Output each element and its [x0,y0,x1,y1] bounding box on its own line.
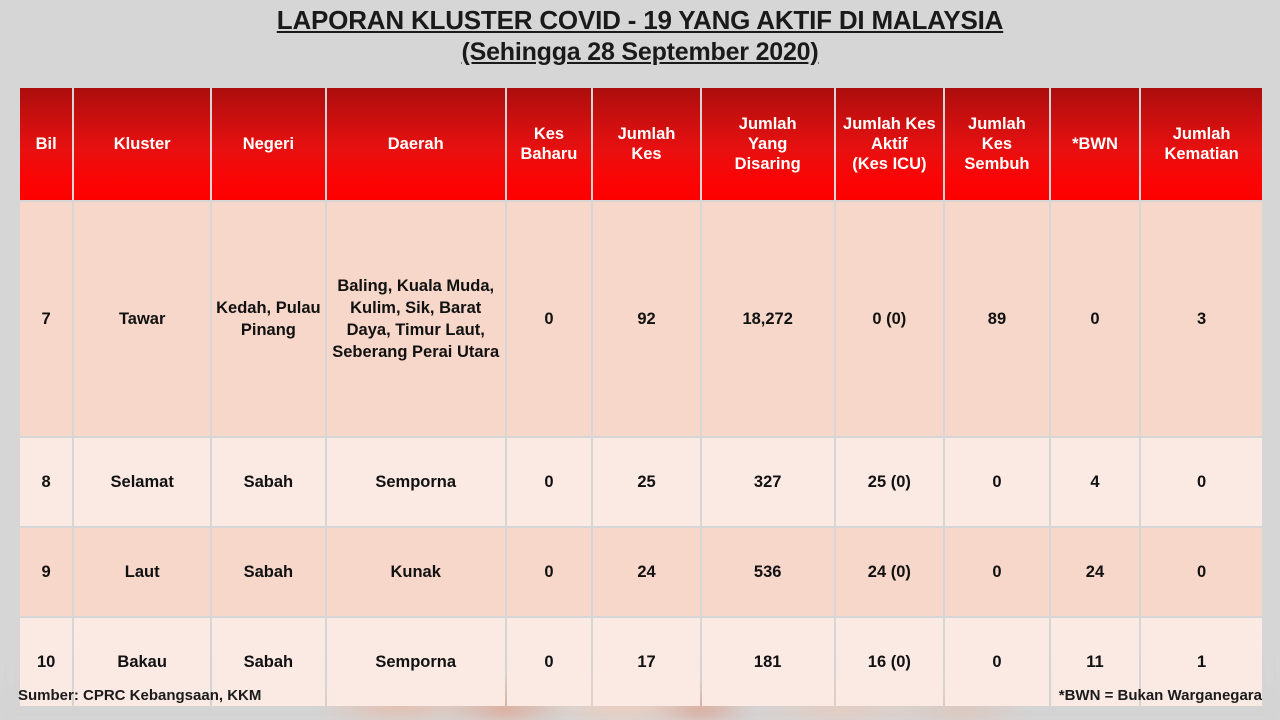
cell-kes-sembuh: 89 [945,202,1049,436]
cell-bwn: 0 [1051,202,1140,436]
header-text: Kluster [114,135,171,153]
header-text: Baharu [521,145,578,163]
header-text: Jumlah [739,115,797,133]
cell-kes-sembuh: 0 [945,528,1049,616]
cell-daerah: Kunak [327,528,505,616]
cell-jumlah-kes: 92 [593,202,700,436]
cell-kes-aktif: 0 (0) [836,202,944,436]
header-text: Jumlah Kes [843,115,936,133]
header-text: Daerah [388,135,444,153]
page-title-line-2: (Sehingga 28 September 2020) [461,36,818,68]
slide-canvas: LAPORAN KLUSTER COVID - 19 YANG AKTIF DI… [0,0,1280,720]
header-text: Bil [36,135,57,153]
footer-legend-bwn: *BWN = Bukan Warganegara [1059,687,1262,704]
header-text: Negeri [243,135,294,153]
cluster-report-table: Bil Kluster Negeri Daerah Kes Baharu Jum… [18,86,1264,708]
column-header-kes-baharu: Kes Baharu [507,88,591,200]
cell-kes-baharu: 0 [507,438,591,526]
cell-bil: 7 [20,202,72,436]
table-header-row: Bil Kluster Negeri Daerah Kes Baharu Jum… [20,88,1262,200]
slide-footer: Sumber: CPRC Kebangsaan, KKM *BWN = Buka… [0,676,1280,720]
cell-kematian: 0 [1141,438,1262,526]
cell-negeri: Sabah [212,438,325,526]
cell-negeri: Sabah [212,528,325,616]
cell-bwn: 4 [1051,438,1140,526]
header-text: *BWN [1072,135,1118,153]
cell-kluster: Laut [74,528,210,616]
column-header-kes-sembuh: Jumlah Kes Sembuh [945,88,1049,200]
column-header-kluster: Kluster [74,88,210,200]
cell-kes-baharu: 0 [507,202,591,436]
cell-jumlah-disaring: 327 [702,438,834,526]
cell-kes-baharu: 0 [507,528,591,616]
cell-kluster: Selamat [74,438,210,526]
header-text: Jumlah [1173,125,1231,143]
cell-kes-sembuh: 0 [945,438,1049,526]
cell-bil: 9 [20,528,72,616]
header-text: Jumlah [968,115,1026,133]
column-header-jumlah-disaring: Jumlah Yang Disaring [702,88,834,200]
table-row: 9 Laut Sabah Kunak 0 24 536 24 (0) 0 24 … [20,528,1262,616]
cell-daerah: Semporna [327,438,505,526]
column-header-bwn: *BWN [1051,88,1140,200]
cell-jumlah-disaring: 536 [702,528,834,616]
cell-bwn: 24 [1051,528,1140,616]
table-row: 7 Tawar Kedah, Pulau Pinang Baling, Kual… [20,202,1262,436]
header-text: (Kes ICU) [852,155,926,173]
column-header-negeri: Negeri [212,88,325,200]
cell-kluster: Tawar [74,202,210,436]
cell-kematian: 0 [1141,528,1262,616]
cell-kematian: 3 [1141,202,1262,436]
table-row: 8 Selamat Sabah Semporna 0 25 327 25 (0)… [20,438,1262,526]
cell-jumlah-disaring: 18,272 [702,202,834,436]
column-header-jumlah-kes: Jumlah Kes [593,88,700,200]
column-header-bil: Bil [20,88,72,200]
column-header-daerah: Daerah [327,88,505,200]
header-text: Kes [631,145,661,163]
page-title-line-1: LAPORAN KLUSTER COVID - 19 YANG AKTIF DI… [277,4,1003,36]
header-text: Kes [982,135,1012,153]
header-text: Disaring [735,155,801,173]
cell-kes-aktif: 25 (0) [836,438,944,526]
header-text: Yang [748,135,787,153]
column-header-jumlah-kematian: Jumlah Kematian [1141,88,1262,200]
header-text: Kes [534,125,564,143]
cell-negeri: Kedah, Pulau Pinang [212,202,325,436]
cell-jumlah-kes: 25 [593,438,700,526]
header-text: Jumlah [618,125,676,143]
header-text: Aktif [871,135,908,153]
header-text: Sembuh [964,155,1029,173]
slide-title-block: LAPORAN KLUSTER COVID - 19 YANG AKTIF DI… [0,4,1280,68]
cell-kes-aktif: 24 (0) [836,528,944,616]
cell-jumlah-kes: 24 [593,528,700,616]
header-text: Kematian [1164,145,1238,163]
footer-source: Sumber: CPRC Kebangsaan, KKM [18,687,261,704]
cell-daerah: Baling, Kuala Muda, Kulim, Sik, Barat Da… [327,202,505,436]
cell-bil: 8 [20,438,72,526]
column-header-kes-aktif: Jumlah Kes Aktif (Kes ICU) [836,88,944,200]
